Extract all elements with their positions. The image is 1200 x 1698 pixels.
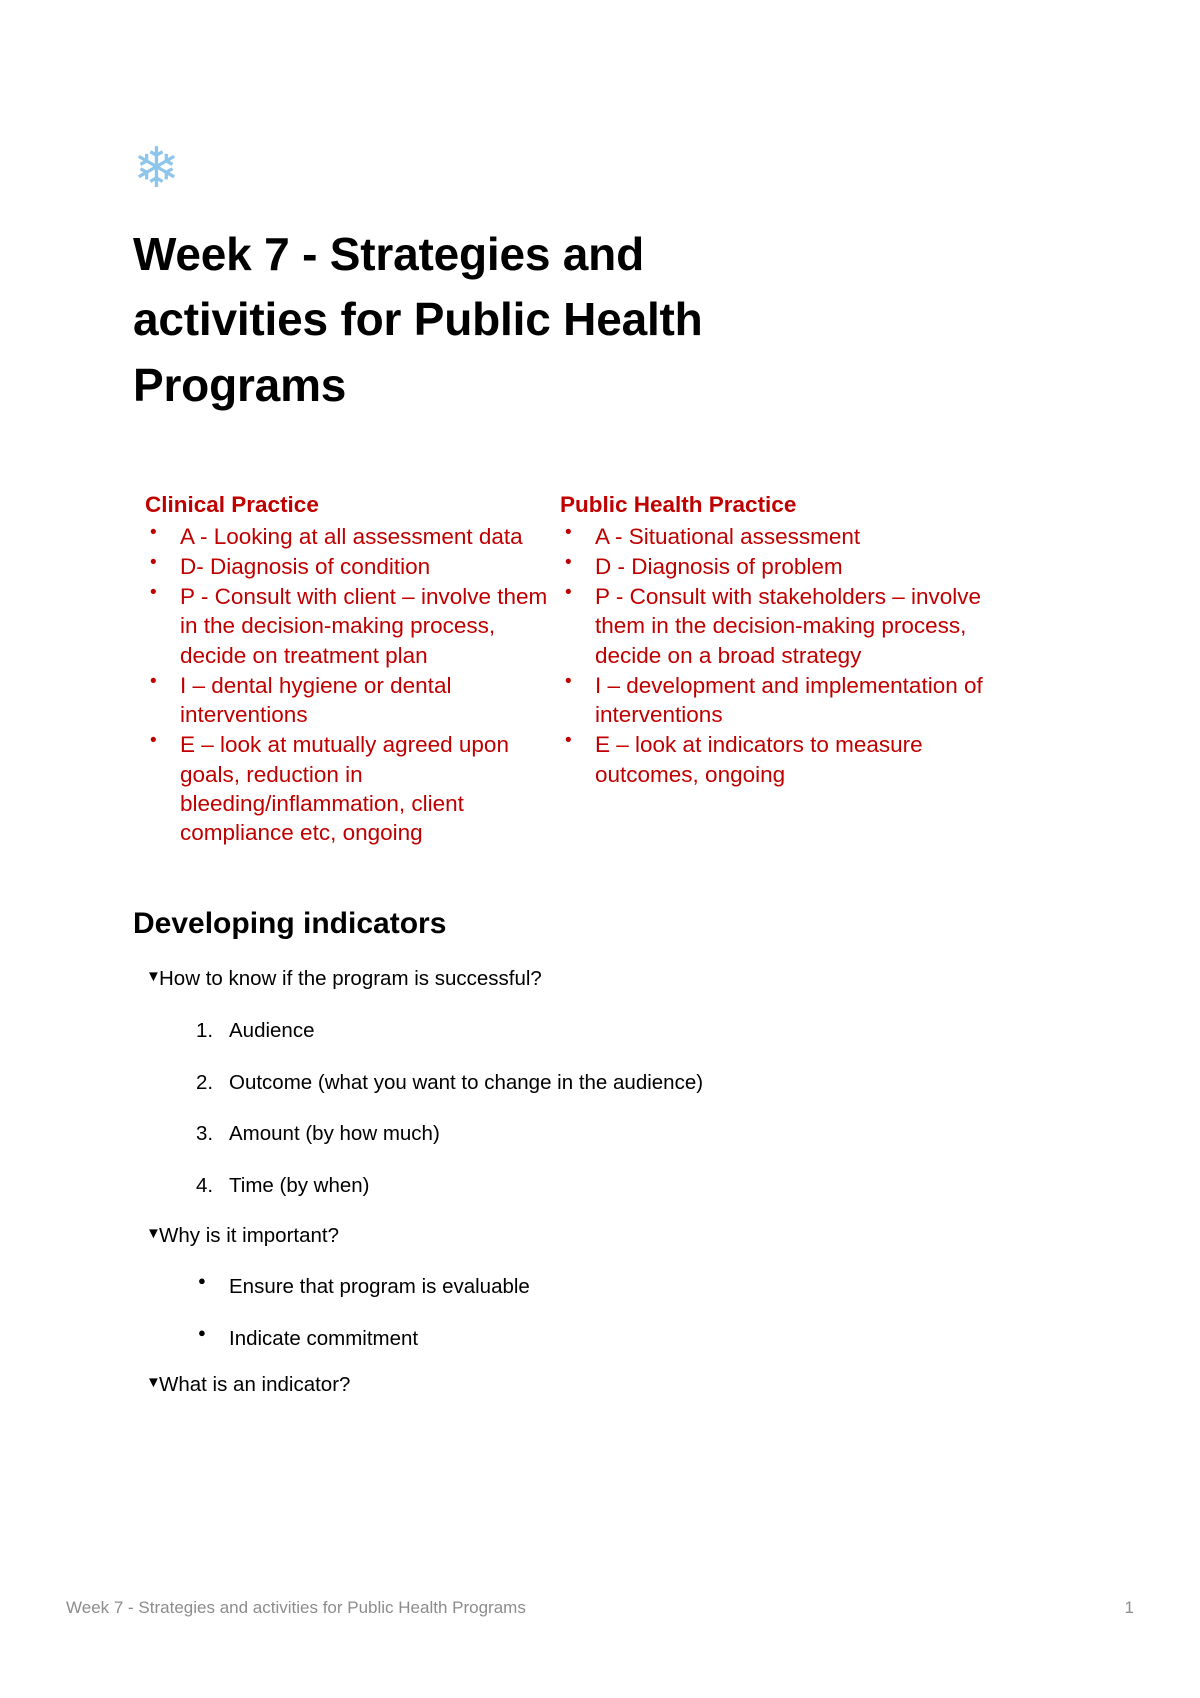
list-item: D- Diagnosis of condition xyxy=(133,552,548,581)
outline-label: How to know if the program is successful… xyxy=(159,967,542,990)
clinical-practice-heading: Clinical Practice xyxy=(145,490,548,520)
list-item: Ensure that program is evaluable xyxy=(196,1273,1067,1301)
list-item: A - Situational assessment xyxy=(548,522,988,551)
document-page: ❄ Week 7 - Strategies and activities for… xyxy=(0,0,1200,1698)
list-item: P - Consult with stakeholders – involve … xyxy=(548,582,988,670)
list-item: D - Diagnosis of problem xyxy=(548,552,988,581)
outline-toggle-why-important[interactable]: ▼ Why is it important? xyxy=(133,1222,1067,1250)
page-footer: Week 7 - Strategies and activities for P… xyxy=(66,1598,1134,1618)
triangle-down-icon[interactable]: ▼ xyxy=(146,966,161,988)
page-title: Week 7 - Strategies and activities for P… xyxy=(133,222,833,418)
outline-label: Why is it important? xyxy=(159,1224,339,1247)
section-heading-developing-indicators: Developing indicators xyxy=(133,904,1067,943)
outline-group-how-to-know: ▼ How to know if the program is successf… xyxy=(133,965,1067,1199)
outline-group-why-important: ▼ Why is it important? Ensure that progr… xyxy=(133,1222,1067,1353)
list-item: Audience xyxy=(196,1017,1067,1045)
footer-title: Week 7 - Strategies and activities for P… xyxy=(66,1598,526,1618)
triangle-down-icon[interactable]: ▼ xyxy=(146,1223,161,1245)
outline-label: What is an indicator? xyxy=(159,1373,350,1396)
list-item: Time (by when) xyxy=(196,1172,1067,1200)
triangle-down-icon[interactable]: ▼ xyxy=(146,1372,161,1394)
list-item: I – dental hygiene or dental interventio… xyxy=(133,671,548,730)
developing-indicators-outline: ▼ How to know if the program is successf… xyxy=(133,965,1067,1398)
clinical-practice-column: Clinical Practice A - Looking at all ass… xyxy=(133,490,548,848)
public-health-practice-list: A - Situational assessment D - Diagnosis… xyxy=(548,522,988,789)
list-item: E – look at indicators to measure outcom… xyxy=(548,730,988,789)
outline-toggle-what-is-indicator[interactable]: ▼ What is an indicator? xyxy=(133,1371,1067,1399)
public-health-practice-column: Public Health Practice A - Situational a… xyxy=(548,490,988,848)
list-item: Amount (by how much) xyxy=(196,1120,1067,1148)
clinical-practice-list: A - Looking at all assessment data D- Di… xyxy=(133,522,548,848)
importance-list: Ensure that program is evaluable Indicat… xyxy=(133,1273,1067,1352)
outline-toggle-how-to-know[interactable]: ▼ How to know if the program is successf… xyxy=(133,965,1067,993)
list-item: P - Consult with client – involve them i… xyxy=(133,582,548,670)
emoji-row: ❄ xyxy=(133,140,1067,222)
list-item: Indicate commitment xyxy=(196,1325,1067,1353)
list-item: A - Looking at all assessment data xyxy=(133,522,548,551)
practice-comparison-columns: Clinical Practice A - Looking at all ass… xyxy=(133,490,1067,848)
list-item: Outcome (what you want to change in the … xyxy=(196,1069,1067,1097)
list-item: I – development and implementation of in… xyxy=(548,671,988,730)
list-item: E – look at mutually agreed upon goals, … xyxy=(133,730,548,847)
public-health-practice-heading: Public Health Practice xyxy=(560,490,988,520)
footer-page-number: 1 xyxy=(1125,1598,1134,1618)
page-content: ❄ Week 7 - Strategies and activities for… xyxy=(133,140,1067,1420)
success-criteria-list: Audience Outcome (what you want to chang… xyxy=(133,1017,1067,1200)
outline-group-what-is-indicator: ▼ What is an indicator? xyxy=(133,1371,1067,1399)
snowflake-emoji: ❄ xyxy=(133,140,180,196)
